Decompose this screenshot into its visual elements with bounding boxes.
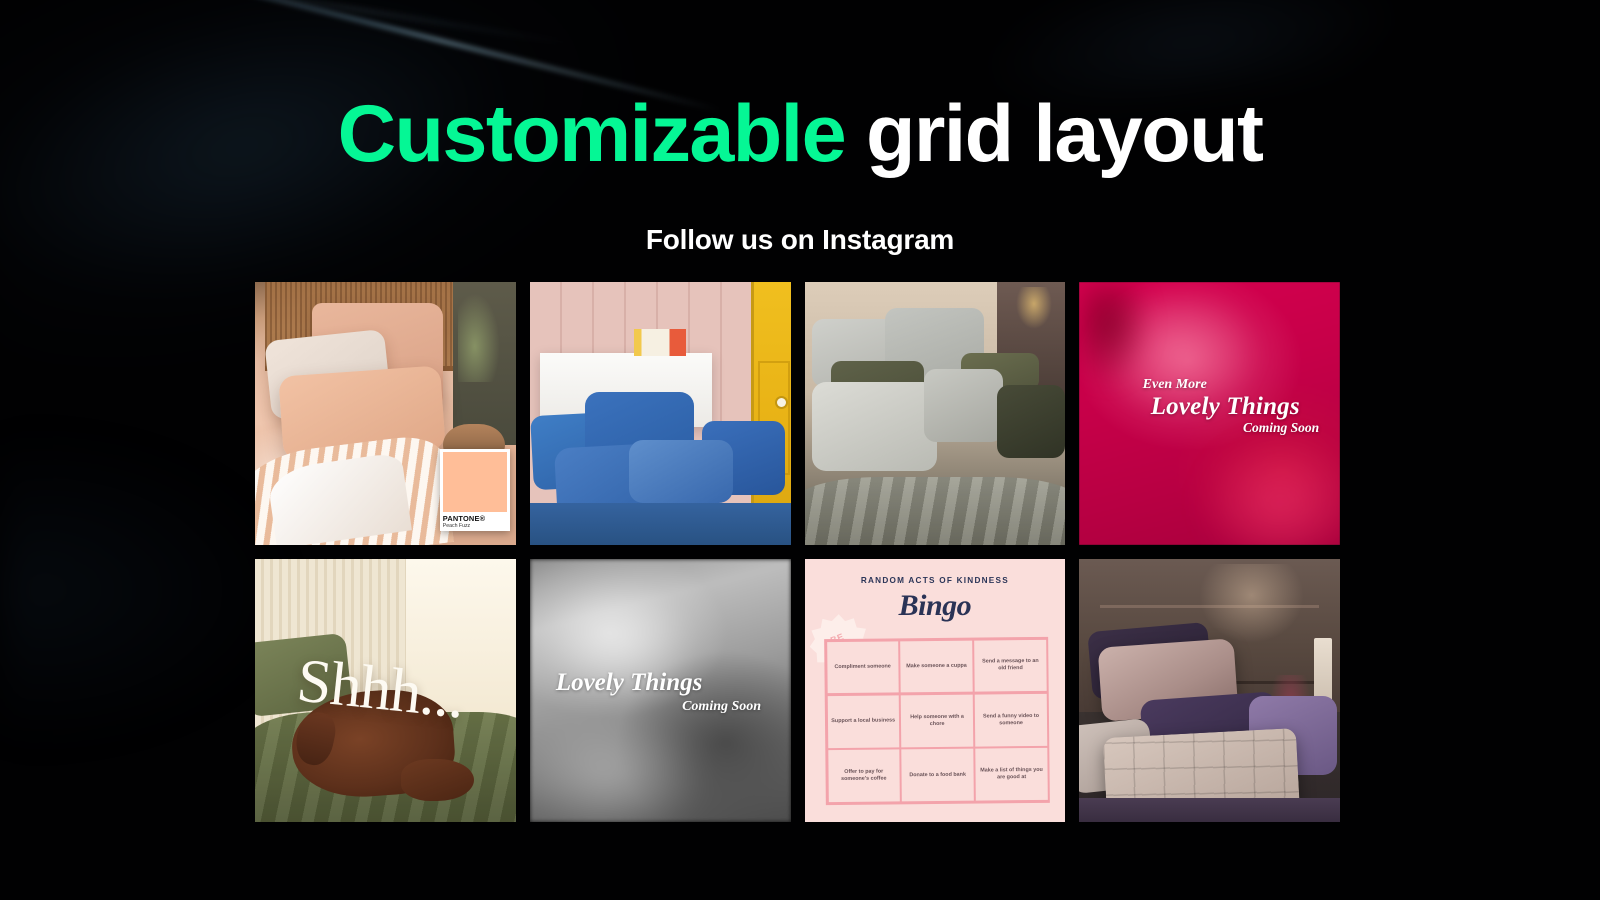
- pantone-color-name: Peach Fuzz: [443, 524, 507, 529]
- bingo-cell[interactable]: Make a list of things you are good at: [976, 748, 1048, 801]
- section-subheading: Follow us on Instagram: [0, 224, 1600, 256]
- shelf-artwork: [634, 329, 686, 355]
- page-title-plain: grid layout: [866, 89, 1262, 179]
- grid-tile-grey-sage-pillows[interactable]: [805, 282, 1066, 545]
- bingo-cell[interactable]: Send a funny video to someone: [975, 694, 1047, 747]
- tile-caption: Lovely Things Coming Soon: [556, 669, 770, 715]
- bingo-cell[interactable]: Help someone with a chore: [901, 694, 973, 747]
- pillow: [812, 382, 937, 471]
- bingo-cell[interactable]: Compliment someone: [827, 641, 899, 694]
- caption-line-3: Coming Soon: [556, 699, 770, 715]
- door-knob: [777, 398, 786, 407]
- bingo-title: Bingo: [805, 589, 1066, 623]
- instagram-grid: PANTONE® Peach Fuzz: [255, 282, 1340, 822]
- bingo-cell[interactable]: Donate to a food bank: [902, 749, 974, 802]
- page-title-accent: Customizable: [338, 89, 845, 179]
- grid-tile-purple-velvet-bedroom[interactable]: [1079, 559, 1340, 822]
- grid-tile-blue-pillows-yellow-door[interactable]: [530, 282, 791, 545]
- tile-caption: Even More Lovely Things Coming Soon: [1131, 377, 1319, 437]
- pantone-swatch-card: PANTONE® Peach Fuzz: [440, 449, 510, 531]
- lamp-glow: [1016, 287, 1053, 329]
- highlight: [530, 712, 702, 822]
- caption-line-1: Even More: [1131, 377, 1319, 393]
- bingo-cell[interactable]: Offer to pay for someone's coffee: [828, 750, 900, 803]
- bingo-cell[interactable]: Send a message to an old friend: [975, 639, 1047, 692]
- grid-tile-crimson-lovely-things[interactable]: Even More Lovely Things Coming Soon: [1079, 282, 1340, 545]
- caption-line-3: Coming Soon: [1131, 420, 1319, 436]
- pillow: [997, 385, 1065, 459]
- pantone-swatch-color: [443, 452, 507, 512]
- tile-caption: Shhh...: [255, 559, 516, 822]
- pillow: [924, 369, 1002, 443]
- lamp-glow: [1199, 564, 1303, 643]
- grid-tile-kindness-bingo[interactable]: RANDOM ACTS OF KINDNESS Bingo BE KIND Co…: [805, 559, 1066, 822]
- background-streak-secondary: [152, 0, 567, 45]
- instagram-grid-section: Customizable grid layout Follow us on In…: [0, 0, 1600, 900]
- bed-base: [530, 503, 791, 545]
- bed-base: [1079, 798, 1340, 822]
- bingo-eyebrow: RANDOM ACTS OF KINDNESS: [805, 576, 1066, 585]
- bingo-grid: Compliment someone Make someone a cuppa …: [824, 637, 1050, 805]
- pillow: [629, 440, 733, 503]
- tile-photo: [530, 282, 791, 545]
- bingo-cell[interactable]: Support a local business: [828, 695, 900, 748]
- pantone-registered-mark: ®: [480, 514, 486, 523]
- shadow: [1079, 282, 1152, 387]
- highlight: [1199, 435, 1340, 545]
- bingo-cell[interactable]: Make someone a cuppa: [901, 640, 973, 693]
- pantone-brand-label: PANTONE®: [443, 515, 507, 522]
- duvet: [805, 477, 1066, 545]
- caption-line-2: Lovely Things: [556, 669, 770, 697]
- caption-line-1: Shhh...: [293, 645, 466, 733]
- page-title: Customizable grid layout: [0, 92, 1600, 177]
- grid-tile-dog-shhh[interactable]: Shhh...: [255, 559, 516, 822]
- plant: [458, 293, 500, 382]
- tile-photo: [805, 282, 1066, 545]
- tile-photo: [1079, 559, 1340, 822]
- caption-line-2: Lovely Things: [1131, 393, 1319, 421]
- grid-tile-greyscale-lovely-things[interactable]: Lovely Things Coming Soon: [530, 559, 791, 822]
- grid-tile-peach-linen-bedroom[interactable]: PANTONE® Peach Fuzz: [255, 282, 516, 545]
- pantone-brand-text: PANTONE: [443, 514, 480, 523]
